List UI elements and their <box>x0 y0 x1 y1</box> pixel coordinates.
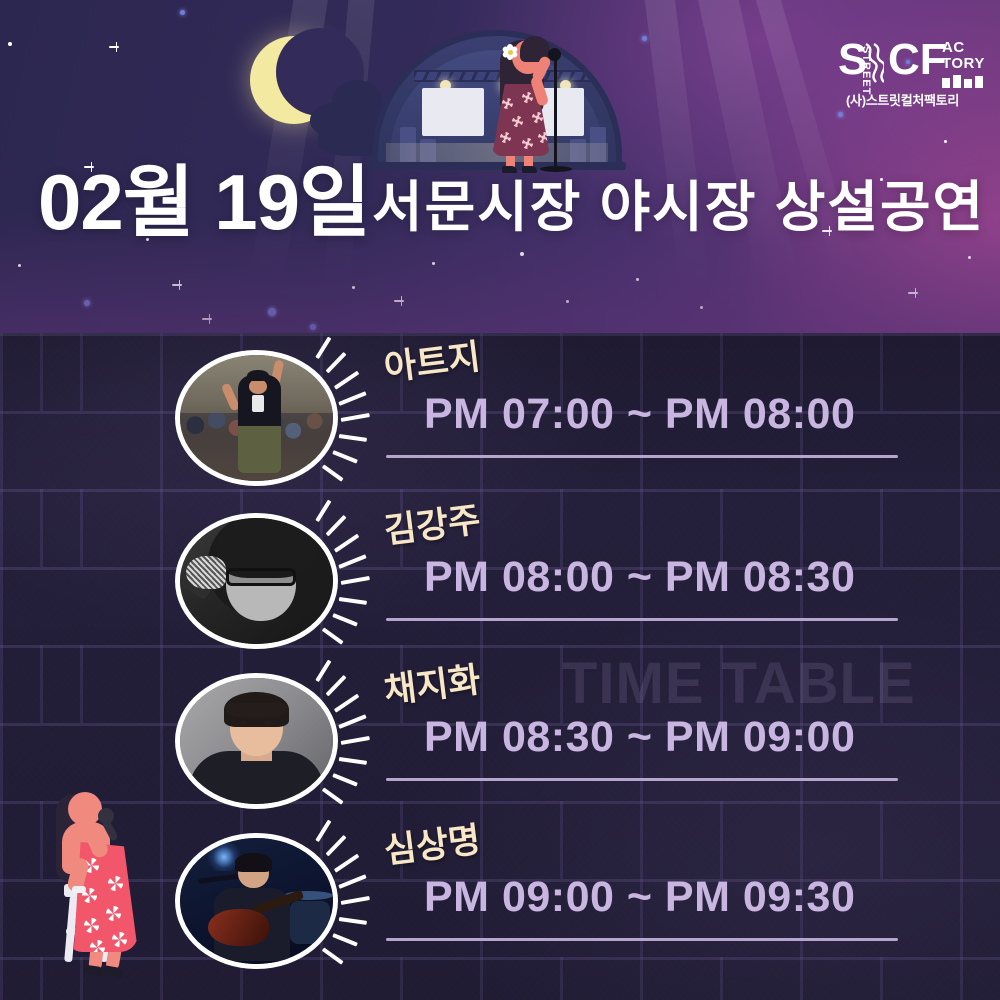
logo-ac-text: AC <box>942 40 965 56</box>
row-divider <box>386 618 898 621</box>
star <box>180 10 185 15</box>
performer-name: 심상명 <box>381 811 483 873</box>
seated-singer-illustration <box>44 786 174 986</box>
page-title-event: 서문시장 야시장 상설공연 <box>372 180 985 235</box>
schedule-row: 아트지 PM 07:00 ~ PM 08:00 <box>0 342 1000 492</box>
performer-time: PM 07:00 ~ PM 08:00 <box>424 390 855 439</box>
singer-illustration <box>478 32 568 172</box>
performer-time: PM 09:00 ~ PM 09:30 <box>424 873 855 922</box>
schedule-row: 김강주 PM 08:00 ~ PM 08:30 <box>0 505 1000 655</box>
logo-street-text: STREET <box>860 46 872 95</box>
performer-photo <box>175 513 338 649</box>
performer-time: PM 08:30 ~ PM 09:00 <box>424 713 855 762</box>
star <box>944 140 947 143</box>
logo-cf-letters: CF <box>888 38 947 82</box>
factory-icon <box>942 74 986 88</box>
performer-photo <box>175 350 338 486</box>
performer-name: 김강주 <box>381 491 483 553</box>
flower-icon <box>502 44 518 60</box>
star <box>838 112 843 117</box>
star <box>113 46 115 48</box>
logo-tory-text: TORY <box>942 56 985 72</box>
performer-time: PM 08:00 ~ PM 08:30 <box>424 553 855 602</box>
performer-photo <box>175 833 338 969</box>
star <box>8 42 12 46</box>
row-divider <box>386 938 898 941</box>
poster-root: 02월 19일 서문시장 야시장 상설공연 S STREET CF AC TOR… <box>0 0 1000 1000</box>
row-divider <box>386 455 898 458</box>
street-culture-factory-logo: S STREET CF AC TORY (사)스트릿컬처팩토리 <box>838 40 988 108</box>
performer-name: 아트지 <box>381 328 483 390</box>
star <box>642 36 647 41</box>
performer-photo <box>175 673 338 809</box>
logo-subtitle: (사)스트릿컬처팩토리 <box>846 90 959 109</box>
performer-name: 채지화 <box>381 651 483 713</box>
row-divider <box>386 778 898 781</box>
page-title-date: 02월 19일 <box>38 163 370 241</box>
